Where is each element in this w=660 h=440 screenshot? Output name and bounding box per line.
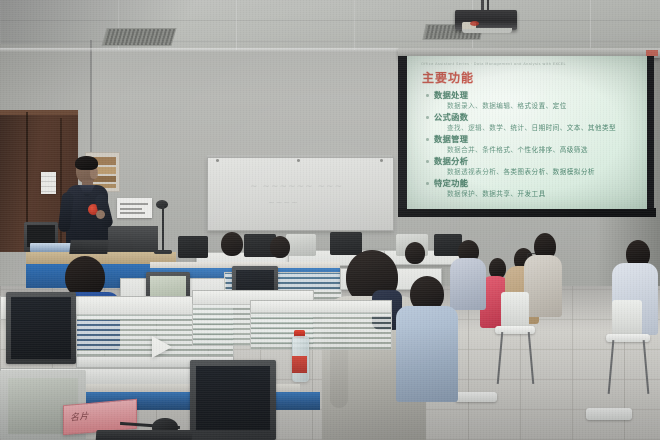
- presenter-hair: [75, 156, 98, 170]
- podium-books: [30, 243, 74, 252]
- attendee-light-top: [524, 255, 562, 317]
- classroom-photo: ~ ~~~~~~ ~~~ ~~~~ Office Assistant Serie…: [0, 0, 660, 440]
- screen-vignette: [407, 56, 647, 209]
- chair-seat: [455, 392, 497, 402]
- wall-notice-paper: [41, 172, 56, 194]
- desk-card-text: 名片: [70, 409, 89, 424]
- whiteboard: [207, 157, 394, 231]
- monitor-screen: [11, 297, 71, 359]
- microphone-base: [154, 250, 172, 254]
- monitor: [286, 234, 316, 256]
- keyboard: [96, 430, 193, 440]
- monitor-screen: [196, 366, 270, 430]
- bottle-label: [292, 356, 307, 373]
- podium-paper: [117, 198, 152, 218]
- chair-seat: [586, 408, 632, 420]
- attendee-head: [270, 236, 290, 258]
- presenter-hand: [96, 210, 105, 219]
- attendee-blue-shirt: [450, 258, 486, 310]
- notice-text-lines: [41, 172, 56, 194]
- monitor: [330, 232, 362, 255]
- monitor: [6, 292, 76, 364]
- monitor: [190, 360, 276, 440]
- whiteboard-writing: ~ ~~~~~~ ~~~: [250, 182, 343, 192]
- ceiling-vent-icon: [101, 28, 176, 46]
- divider-glass-panel: [250, 312, 392, 350]
- whiteboard-writing: ~~~~: [268, 198, 299, 207]
- monitor: [178, 236, 208, 258]
- attendee-head: [405, 242, 425, 264]
- microphone-stand: [162, 206, 164, 252]
- attendee-head: [221, 232, 243, 256]
- screen-frame-left: [398, 56, 407, 213]
- cabinet-top-edge: [0, 110, 78, 115]
- attendee-blue-shirt: [396, 306, 458, 402]
- projection-screen: Office Assistant Series · Data Managemen…: [407, 56, 647, 209]
- paper-note: [152, 336, 172, 358]
- projector-indicator-light: [470, 21, 479, 26]
- screen-frame-bottom: [398, 208, 656, 217]
- podium-laptop: [69, 240, 108, 254]
